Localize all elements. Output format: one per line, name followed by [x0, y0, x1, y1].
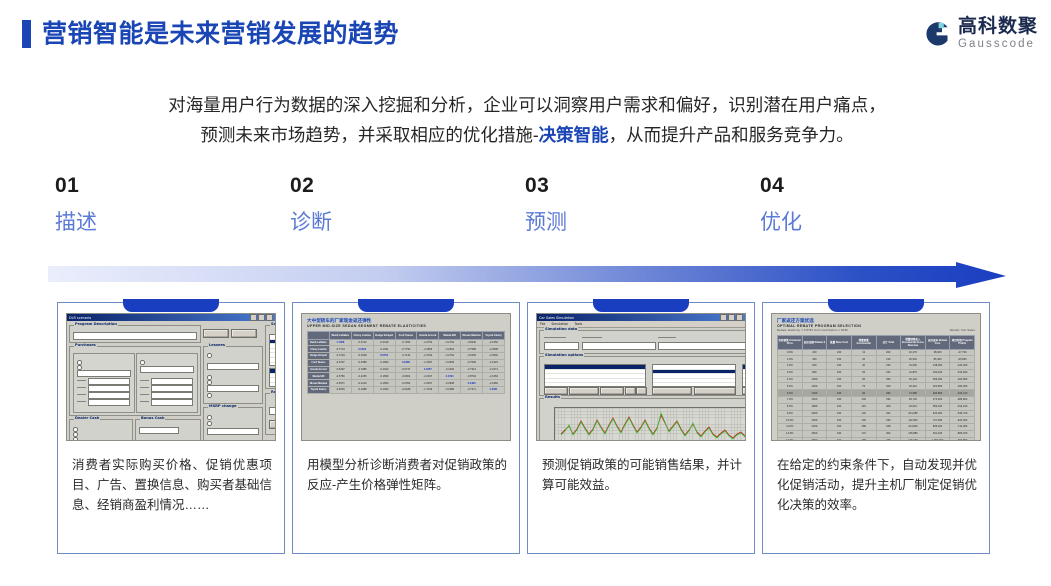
- table-cell: 40: [851, 363, 876, 370]
- table-cell: -0.5645: [329, 386, 351, 393]
- table-cell: 12.0%: [778, 430, 803, 437]
- model-select[interactable]: [269, 407, 276, 415]
- column-header: Dodge Intrepid: [373, 331, 395, 339]
- group-legend: Lessees: [208, 343, 226, 347]
- table-cell: 31,600: [901, 363, 926, 370]
- card-tab: [358, 299, 454, 312]
- table-cell: 190: [827, 390, 852, 397]
- table-cell: 94,010: [901, 403, 926, 410]
- lessee-cash-input[interactable]: [207, 363, 259, 370]
- table-cell: -0.2018: [373, 339, 395, 346]
- screenshot-optimal-rebate-table: 厂家返还方案优选 OPTIMAL REBATE PROGRAM SELECTIO…: [771, 313, 981, 441]
- group-dealer-cash: Dealer Cash: [69, 419, 133, 441]
- rebate-amount-input[interactable]: [77, 370, 131, 377]
- table-row: Nissan Maxima-0.6571-0.2149-0.1869-0.635…: [308, 380, 505, 387]
- table-cell: -2.0602: [483, 353, 505, 360]
- table-cell: -0.2235: [351, 373, 373, 380]
- group-lessees: Lessees: [203, 346, 263, 404]
- table-cell: 3.0%: [778, 369, 803, 376]
- card-optimize[interactable]: 厂家返还方案优选 OPTIMAL REBATE PROGRAM SELECTIO…: [762, 302, 990, 554]
- edit-button[interactable]: [600, 387, 624, 395]
- table-row: 0.0%2001901320310,27038,000-27,730: [778, 349, 975, 356]
- table-row: Chevy Lumina-0.77132.2523-0.1991-0.7793-…: [308, 346, 505, 353]
- table-row: 7.0%160019010629683,740473,600-389,860: [778, 396, 975, 403]
- table-cell: -2.1697: [417, 359, 439, 366]
- table-cell: -2.0608: [483, 346, 505, 353]
- table-cell: -0.6490: [461, 353, 483, 360]
- rebate-subtitle-left: Rebate elasticity = 0.8752 Unit Contribu…: [777, 329, 848, 333]
- table-row: 3.0%8001905324341,870194,400-152,530: [778, 369, 975, 376]
- row-header: Chevy Lumina: [308, 346, 330, 353]
- column-header: Chevy Lumina: [351, 331, 373, 339]
- screenshot-dlr-scenario-form: DLR scenario Program Description Purchas…: [66, 313, 276, 441]
- table-cell: -0.2794: [439, 339, 461, 346]
- table-row: 1.0%4001902621620,54086,400-65,860: [778, 356, 975, 363]
- table-cell: 400: [802, 356, 827, 363]
- group-legend: Save incentives: [270, 322, 276, 326]
- table-cell: 348: [876, 424, 901, 431]
- step-02: 02 诊断: [290, 175, 470, 233]
- table-row: Mazda 626-0.6766-0.2235-0.1890-0.6904-2.…: [308, 373, 505, 380]
- simulation-line-chart: [554, 407, 746, 441]
- column-header: 实际销售 Customer Price: [778, 335, 803, 349]
- table-row: 6.0%14001909228272,680394,800-322,120: [778, 390, 975, 397]
- table-cell: 10,270: [901, 349, 926, 356]
- table-cell: 322,800: [925, 383, 950, 390]
- table-cell: 190: [827, 383, 852, 390]
- step-03: 03 预测: [525, 175, 705, 233]
- table-cell: -0.2149: [351, 380, 373, 387]
- model-class-select[interactable]: [544, 342, 579, 350]
- radio-msrp-percent[interactable]: [207, 421, 212, 426]
- group-results: Results Dodge Caravan sim Dodge Caravan …: [539, 398, 746, 441]
- region-select[interactable]: [658, 342, 746, 350]
- term-36-input[interactable]: [88, 385, 130, 392]
- column-header: 增量销量 Incremental: [851, 335, 876, 349]
- close-button[interactable]: [231, 329, 257, 338]
- table-cell: -2.2752: [417, 339, 439, 346]
- table-cell: 7.0%: [778, 396, 803, 403]
- table-cell: 800: [802, 369, 827, 376]
- table-cell: 10.0%: [778, 417, 803, 424]
- radio-no-subsidy[interactable]: [207, 353, 212, 358]
- table-row: 4.0%10001906625652,140256,000-203,860: [778, 376, 975, 383]
- group-program-description: Program Description: [69, 325, 201, 343]
- radio-all-cash-inc-bonus[interactable]: [73, 437, 78, 441]
- table-cell: 216: [876, 356, 901, 363]
- table-cell: 119: [851, 403, 876, 410]
- table-cell: -0.6766: [329, 373, 351, 380]
- clear-button[interactable]: [269, 420, 276, 429]
- card-diagnose[interactable]: 大中型轿车的厂家现金返还弹性 UPPER MID-SIZE SEDAN SEGM…: [292, 302, 520, 554]
- table-cell: -2.3702: [417, 353, 439, 360]
- table-cell: 335: [876, 417, 901, 424]
- region-list[interactable]: [269, 368, 276, 387]
- table-cell: -0.6352: [395, 380, 417, 387]
- table-cell: 190: [827, 369, 852, 376]
- table-cell: -260,390: [950, 383, 975, 390]
- group-legend: Dealer Cash: [74, 416, 100, 420]
- column-header: Ford Taurus: [395, 331, 417, 339]
- group-legend: Results: [544, 395, 561, 399]
- radio-not-offered[interactable]: [140, 360, 145, 365]
- table-cell: -805,320: [950, 430, 975, 437]
- table-cell: 2800: [802, 437, 827, 441]
- table-cell: 66: [851, 376, 876, 383]
- table-cell: 79: [851, 383, 876, 390]
- table-cell: 13.0%: [778, 437, 803, 441]
- table-cell: 4.0257: [417, 366, 439, 373]
- table-cell: 138,000: [925, 363, 950, 370]
- row-header: Mazda 626: [308, 373, 330, 380]
- combo-48-input[interactable]: [151, 392, 193, 399]
- column-header: Toyota Camry: [483, 331, 505, 339]
- row-header: Toyota Camry: [308, 386, 330, 393]
- table-cell: -0.7110: [395, 353, 417, 360]
- table-cell: 0.0%: [778, 349, 803, 356]
- card-caption: 预测促销政策的可能销售结果，并计算可能效益。: [542, 455, 742, 495]
- table-cell: 190: [827, 376, 852, 383]
- bonus-cash-input[interactable]: [139, 427, 179, 434]
- table-cell: 158: [851, 424, 876, 431]
- table-cell: 1,050,000: [925, 437, 950, 441]
- table-cell: 1.0%: [778, 356, 803, 363]
- table-cell: 9.0%: [778, 410, 803, 417]
- radio-msrp-amount[interactable]: [207, 415, 212, 420]
- table-cell: -539,720: [950, 410, 975, 417]
- table-cell: 2.0%: [778, 363, 803, 370]
- table-cell: 362: [876, 430, 901, 437]
- table-cell: 172: [851, 430, 876, 437]
- lead-line-2a: 预测未来市场趋势，并采取相应的优化措施-: [200, 125, 538, 145]
- table-cell: 11.0%: [778, 424, 803, 431]
- table-row: 2.0%6001904023031,600138,000-106,400: [778, 363, 975, 370]
- group-legend: Simulation data: [544, 327, 578, 331]
- table-header-row: 实际销售 Customer Price返还金额 Rebate $数量 Base …: [778, 335, 975, 349]
- table-cell: -0.6189: [395, 386, 417, 393]
- step-number: 04: [760, 175, 940, 196]
- select-all-button[interactable]: [652, 387, 692, 395]
- table-cell: -0.6767: [329, 359, 351, 366]
- table-cell: 556,200: [925, 403, 950, 410]
- radio-apr[interactable]: [207, 380, 212, 385]
- step-number: 01: [55, 175, 235, 196]
- table-cell: -0.1869: [373, 380, 395, 387]
- window-title: DLR scenario: [69, 316, 91, 320]
- table-row: 12.0%2600190172362135,880941,200-805,320: [778, 430, 975, 437]
- table-row: Dodge Intrepid-0.7204-0.29280.8752-0.711…: [308, 353, 505, 360]
- table-cell: -0.1986: [351, 366, 373, 373]
- table-cell: -2.1056: [483, 339, 505, 346]
- combo-60-input[interactable]: [151, 399, 193, 406]
- radio-apr-subsidy[interactable]: [77, 365, 82, 370]
- row-header: Dodge Intrepid: [308, 353, 330, 360]
- table-cell: 0.6480: [461, 380, 483, 387]
- table-row: Honda Accord-0.5497-0.1986-0.1642-0.5747…: [308, 366, 505, 373]
- add-button[interactable]: [544, 387, 568, 395]
- step-number: 03: [525, 175, 705, 196]
- table-cell: 1200: [802, 383, 827, 390]
- radio-cash-only[interactable]: [73, 427, 78, 432]
- table-cell: -0.2838: [439, 380, 461, 387]
- table-cell: 190: [827, 437, 852, 441]
- table-cell: -462,190: [950, 403, 975, 410]
- window-title: Car Sales Simulation: [539, 316, 574, 320]
- table-cell: 200: [802, 349, 827, 356]
- table-cell: 41,870: [901, 369, 926, 376]
- clear-all-button[interactable]: [694, 387, 736, 395]
- table-cell: 2200: [802, 417, 827, 424]
- step-label: 描述: [55, 212, 235, 233]
- rate-subsidy-input[interactable]: [207, 385, 259, 392]
- group-bonus-cash: Bonus Cash: [135, 419, 201, 441]
- group-simulation-options: Simulation options: [539, 356, 746, 396]
- card-row: DLR scenario Program Description Purchas…: [0, 298, 1051, 560]
- row-header: Buick LaSabre: [308, 339, 330, 346]
- table-cell: 53: [851, 369, 876, 376]
- table-cell: -0.7254: [395, 339, 417, 346]
- radio-no-rebate[interactable]: [77, 360, 82, 365]
- table-cell: 296: [876, 396, 901, 403]
- table-cell: -0.2602: [439, 346, 461, 353]
- table-cell: -2.3207: [417, 380, 439, 387]
- rebate-table: 实际销售 Customer Price返还金额 Rebate $数量 Base …: [777, 335, 975, 442]
- title-row: 营销智能是未来营销发展的趋势: [22, 20, 399, 48]
- table-cell: -0.7500: [461, 359, 483, 366]
- radio-rebate-cash-inc[interactable]: [73, 432, 78, 437]
- table-cell: -152,530: [950, 369, 975, 376]
- table-cell: 2.2523: [351, 346, 373, 353]
- radio-money-factor[interactable]: [207, 375, 212, 380]
- row-header: Nissan Maxima: [308, 380, 330, 387]
- table-cell: 26: [851, 356, 876, 363]
- msrp-change-input[interactable]: [207, 428, 259, 435]
- table-cell: -622,450: [950, 417, 975, 424]
- group-legend: Retrieve incentives: [270, 390, 276, 394]
- group-simulation-data: Simulation data: [539, 330, 746, 354]
- slide-header: 营销智能是未来营销发展的趋势 高科数聚 Gausscode: [0, 0, 1051, 72]
- table-cell: -203,860: [950, 376, 975, 383]
- term-48-input[interactable]: [88, 392, 130, 399]
- term-60-input[interactable]: [88, 399, 130, 406]
- table-cell: -1.7436: [417, 386, 439, 393]
- table-cell: 2400: [802, 424, 827, 431]
- column-header: 增量销售收入 Incremental Gross Revenue: [901, 335, 926, 349]
- model-list[interactable]: [269, 334, 276, 366]
- group-legend: MSRP change: [208, 404, 238, 408]
- table-cell: -0.5497: [329, 366, 351, 373]
- table-cell: 92: [851, 390, 876, 397]
- table-cell: -0.1988: [351, 386, 373, 393]
- radio-amount[interactable]: [207, 393, 212, 398]
- table-cell: 1600: [802, 396, 827, 403]
- table-cell: 190: [827, 356, 852, 363]
- term-24-input[interactable]: [88, 378, 130, 385]
- table-cell: 1400: [802, 390, 827, 397]
- table-row: Buick LaSabre1.1568-0.3742-0.2018-0.7254…: [308, 339, 505, 346]
- table-cell: -0.7314: [461, 366, 483, 373]
- table-cell: 375: [876, 437, 901, 441]
- table-cell: 394,800: [925, 390, 950, 397]
- table-corner: [308, 331, 330, 339]
- group-retrieve-incentives: Retrieve incentives: [265, 393, 276, 435]
- screenshot-simulation-window: Car Sales Simulation File Simulation Too…: [536, 313, 746, 441]
- card-caption: 在给定的约束条件下，自动发现并优化促销活动，提升主机厂制定促销优化决策的效率。: [777, 455, 977, 515]
- table-cell: -2.1923: [483, 359, 505, 366]
- table-cell: 145: [851, 417, 876, 424]
- table-cell: -27,730: [950, 349, 975, 356]
- card-describe[interactable]: DLR scenario Program Description Purchas…: [57, 302, 285, 554]
- brand-logo: 高科数聚 Gausscode: [921, 17, 1038, 51]
- table-cell: 5.0%: [778, 383, 803, 390]
- table-cell: -322,120: [950, 390, 975, 397]
- table-cell: 135,880: [901, 430, 926, 437]
- combo-36-input[interactable]: [151, 385, 193, 392]
- group-save-incentives: Save incentives: [265, 325, 276, 389]
- table-cell: -0.1642: [373, 366, 395, 373]
- logo-name-cn: 高科数聚: [958, 17, 1038, 36]
- group-purchases: Purchases: [69, 346, 201, 416]
- column-header: 数量 Base Cost: [827, 335, 852, 349]
- table-cell: 20,540: [901, 356, 926, 363]
- step-label: 预测: [525, 212, 705, 233]
- table-cell: 52,140: [901, 376, 926, 383]
- table-cell: -0.1660: [373, 386, 395, 393]
- scenario-list[interactable]: [544, 364, 646, 387]
- table-cell: 190: [827, 430, 852, 437]
- table-cell: -0.2928: [351, 353, 373, 360]
- table-row: 8.0%180019011930994,010556,200-462,190: [778, 403, 975, 410]
- table-cell: -0.7204: [329, 353, 351, 360]
- table-cell: -0.7371: [461, 386, 483, 393]
- menu-file[interactable]: File: [540, 322, 545, 326]
- card-predict[interactable]: Car Sales Simulation File Simulation Too…: [527, 302, 755, 554]
- table-cell: -0.3742: [351, 339, 373, 346]
- column-header: Honda Accord: [417, 331, 439, 339]
- table-cell: 2000: [802, 410, 827, 417]
- column-header: 项目利润 Program Profits: [950, 335, 975, 349]
- column-header: 返还成本 Rebate Cost: [925, 335, 950, 349]
- segment-select[interactable]: [582, 342, 656, 350]
- table-cell: 132: [851, 410, 876, 417]
- column-header: Mazda 626: [439, 331, 461, 339]
- table-cell: 8.0%: [778, 403, 803, 410]
- graph-button[interactable]: [742, 387, 746, 395]
- matrix-title-en: UPPER MID-SIZE SEDAN SEGMENT REBATE ELAS…: [307, 324, 505, 329]
- combo-24-input[interactable]: [151, 378, 193, 385]
- table-cell: 190: [827, 403, 852, 410]
- step-01: 01 描述: [55, 175, 235, 233]
- step-list: 01 描述 02 诊断 03 预测 04 优化: [55, 175, 1010, 245]
- table-cell: 473,600: [925, 396, 950, 403]
- table-cell: 1800: [802, 403, 827, 410]
- table-cell: 644,000: [925, 410, 950, 417]
- lead-line-1: 对海量用户行为数据的深入挖掘和分析，企业可以洞察用户需求和偏好，识别潜在用户痛点…: [168, 95, 886, 115]
- table-cell: 190: [827, 424, 852, 431]
- table-cell: 190: [827, 349, 852, 356]
- table-row: 9.0%2000190132322104,280644,000-539,720: [778, 410, 975, 417]
- table-cell: 194,400: [925, 369, 950, 376]
- card-caption: 用模型分析诊断消费者对促销政策的反应-产生价格弹性矩阵。: [307, 455, 507, 495]
- remove-button[interactable]: [569, 387, 599, 395]
- subgroup-rebate-apr-combo: [136, 353, 198, 413]
- table-cell: -2.1660: [483, 373, 505, 380]
- move-down-button[interactable]: [636, 387, 647, 395]
- logo-wordmark: 高科数聚 Gausscode: [958, 17, 1038, 51]
- table-cell: 600: [802, 363, 827, 370]
- program-description-input[interactable]: [73, 332, 197, 340]
- table-cell: 2600: [802, 430, 827, 437]
- table-cell: 190: [827, 410, 852, 417]
- table-cell: 185: [851, 437, 876, 441]
- table-cell: -0.6904: [395, 373, 417, 380]
- table-cell: -106,400: [950, 363, 975, 370]
- table-cell: -2.2271: [483, 366, 505, 373]
- table-cell: -0.6571: [329, 380, 351, 387]
- table-cell: -0.1860: [373, 359, 395, 366]
- table-cell: 38,000: [925, 349, 950, 356]
- group-legend: Program Description: [74, 322, 118, 326]
- card-tab: [593, 299, 689, 312]
- table-cell: 190: [827, 396, 852, 403]
- table-cell: 106: [851, 396, 876, 403]
- screenshot-rebate-elasticity-matrix: 大中型轿车的厂家现金返还弹性 UPPER MID-SIZE SEDAN SEGM…: [301, 313, 511, 441]
- table-cell: 269: [876, 383, 901, 390]
- table-cell: 256,000: [925, 376, 950, 383]
- table-cell: 835,200: [925, 424, 950, 431]
- elasticity-table: Buick LaSabreChevy LuminaDodge IntrepidF…: [307, 331, 505, 394]
- table-cell: 72,680: [901, 390, 926, 397]
- table-cell: -903,850: [950, 437, 975, 441]
- table-cell: 282: [876, 390, 901, 397]
- table-cell: 86,400: [925, 356, 950, 363]
- table-header-row: Buick LaSabreChevy LuminaDodge IntrepidF…: [308, 331, 505, 339]
- move-up-button[interactable]: [625, 387, 636, 395]
- table-cell: -389,860: [950, 396, 975, 403]
- rebate-subtitle-right: Weekly Unit Sales: [950, 329, 975, 333]
- table-cell: -2.2806: [417, 346, 439, 353]
- table-cell: 309: [876, 403, 901, 410]
- table-cell: 62,410: [901, 383, 926, 390]
- column-header: 返还金额 Rebate $: [802, 335, 827, 349]
- subgroup-rebate-apr: [73, 353, 135, 413]
- table-cell: 6.0%: [778, 390, 803, 397]
- lead-paragraph: 对海量用户行为数据的深入挖掘和分析，企业可以洞察用户需求和偏好，识别潜在用户痛点…: [52, 90, 1002, 150]
- output-options-list[interactable]: [742, 364, 746, 387]
- table-cell: 941,200: [925, 430, 950, 437]
- table-cell: 190: [827, 363, 852, 370]
- menu-tools[interactable]: Tools: [574, 322, 582, 326]
- model-select-list[interactable]: [652, 364, 736, 387]
- column-header: Buick LaSabre: [329, 331, 351, 339]
- table-cell: -710,380: [950, 424, 975, 431]
- combo-amount-input[interactable]: [140, 366, 194, 373]
- table-cell: 230: [876, 363, 901, 370]
- progress-arrow-icon: [48, 262, 1008, 290]
- step-04: 04 优化: [760, 175, 940, 233]
- table-cell: 203: [876, 349, 901, 356]
- table-cell: -0.7586: [461, 346, 483, 353]
- lead-line-2b: ，从而提升产品和服务竞争力。: [609, 125, 854, 145]
- lead-highlight: 决策智能: [539, 125, 609, 145]
- table-row: 13.0%2800190185375146,1501,050,000-903,8…: [778, 437, 975, 441]
- table-cell: 0.8752: [373, 353, 395, 360]
- table-cell: -0.8340: [461, 339, 483, 346]
- table-cell: -0.1991: [373, 346, 395, 353]
- save-button[interactable]: [203, 329, 229, 338]
- menu-simulation[interactable]: Simulation: [551, 322, 568, 326]
- table-row: Toyota Camry-0.5645-0.1988-0.1660-0.6189…: [308, 386, 505, 393]
